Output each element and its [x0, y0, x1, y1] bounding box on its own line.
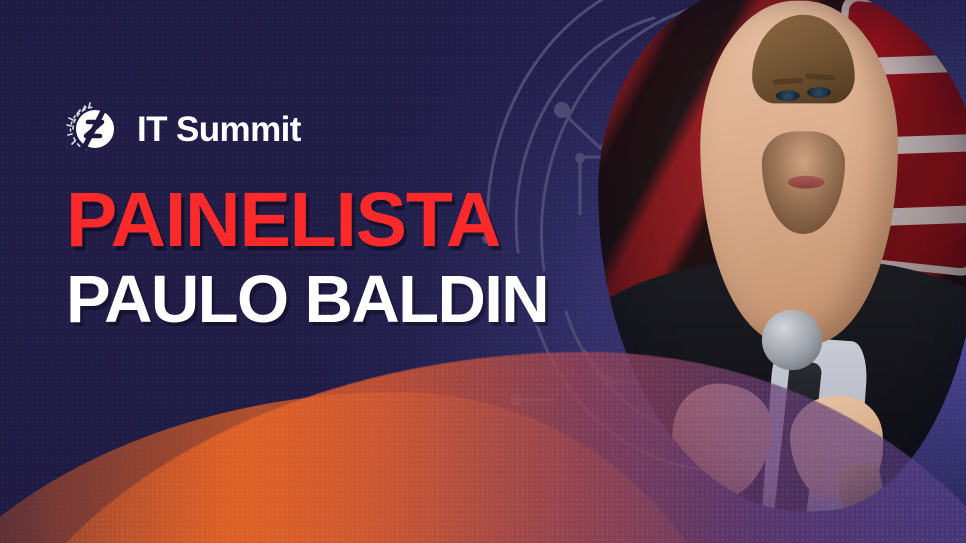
- brand-name: IT Summit: [137, 112, 301, 147]
- speaker-eye-left: [775, 90, 799, 101]
- speaker-role-title: PAINELISTA: [66, 184, 666, 257]
- speaker-announcement-slide: IT Summit PAINELISTA PAULO BALDIN: [0, 0, 966, 543]
- headline-block: PAINELISTA PAULO BALDIN: [66, 184, 666, 333]
- speaker-hair: [752, 15, 855, 104]
- speaker-eye-right: [807, 87, 831, 98]
- speaker-name-title: PAULO BALDIN: [66, 266, 666, 333]
- speaker-head: [700, 1, 898, 344]
- brand-logo: IT Summit: [66, 100, 301, 158]
- lightning-bolt-circle-icon: [66, 100, 124, 158]
